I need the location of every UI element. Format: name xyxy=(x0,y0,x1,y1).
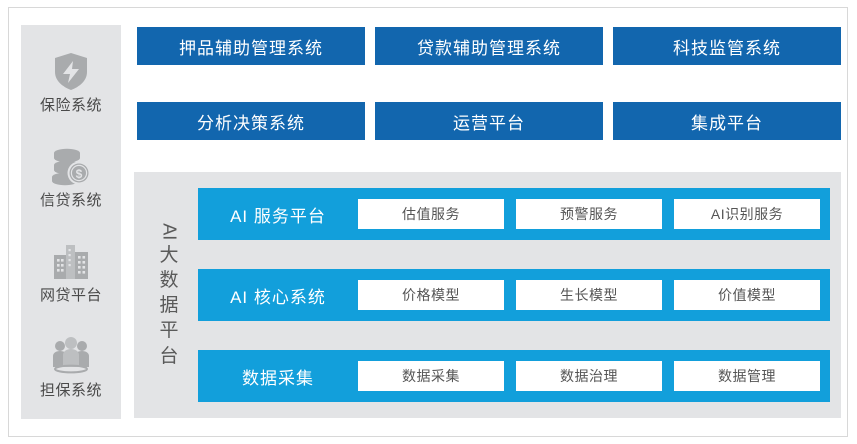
system-button-integration-platform[interactable]: 集成平台 xyxy=(613,102,841,140)
ai-row-chips: 估值服务 预警服务 AI识别服务 xyxy=(358,199,830,229)
chip-data-management[interactable]: 数据管理 xyxy=(674,361,820,391)
chip-growth-model[interactable]: 生长模型 xyxy=(516,280,662,310)
sidebar: 保险系统 $ 信贷 xyxy=(21,25,121,419)
system-button-operations-platform[interactable]: 运营平台 xyxy=(375,102,603,140)
chip-data-governance[interactable]: 数据治理 xyxy=(516,361,662,391)
ai-core-system-row: AI 核心系统 价格模型 生长模型 价值模型 xyxy=(198,269,830,321)
ai-vertical-char: AI xyxy=(158,223,180,240)
ai-platform-vertical-title: AI 大 数 据 平 台 xyxy=(142,186,196,404)
shield-bolt-icon xyxy=(48,48,94,94)
ai-row-chips: 价格模型 生长模型 价值模型 xyxy=(358,280,830,310)
system-button-pledge-management[interactable]: 押品辅助管理系统 xyxy=(137,27,365,65)
svg-text:$: $ xyxy=(76,167,83,181)
sidebar-item-label: 网贷平台 xyxy=(40,288,102,303)
chip-value-model[interactable]: 价值模型 xyxy=(674,280,820,310)
system-button-loan-management[interactable]: 贷款辅助管理系统 xyxy=(375,27,603,65)
sidebar-item-online-lending[interactable]: 网贷平台 xyxy=(21,223,121,318)
ai-vertical-char: 数 xyxy=(159,268,178,293)
ai-vertical-char: 大 xyxy=(159,243,178,268)
chip-price-model[interactable]: 价格模型 xyxy=(358,280,504,310)
ai-vertical-char: 据 xyxy=(159,293,178,318)
sidebar-item-credit[interactable]: $ 信贷系统 xyxy=(21,128,121,223)
chip-ai-recognition-service[interactable]: AI识别服务 xyxy=(674,199,820,229)
ai-vertical-char: 平 xyxy=(159,318,178,343)
system-button-tech-supervision[interactable]: 科技监管系统 xyxy=(613,27,841,65)
people-group-icon xyxy=(48,333,94,379)
ai-row-label: AI 服务平台 xyxy=(198,202,358,227)
ai-row-chips: 数据采集 数据治理 数据管理 xyxy=(358,361,830,391)
ai-service-platform-row: AI 服务平台 估值服务 预警服务 AI识别服务 xyxy=(198,188,830,240)
sidebar-item-label: 保险系统 xyxy=(40,98,102,113)
ai-row-label: AI 核心系统 xyxy=(198,283,358,308)
ai-row-label: 数据采集 xyxy=(198,364,358,389)
system-button-analysis-decision[interactable]: 分析决策系统 xyxy=(137,102,365,140)
sidebar-item-insurance[interactable]: 保险系统 xyxy=(21,33,121,128)
buildings-icon xyxy=(48,238,94,284)
sidebar-item-label: 信贷系统 xyxy=(40,193,102,208)
chip-data-collection[interactable]: 数据采集 xyxy=(358,361,504,391)
ai-bigdata-platform-panel: AI 大 数 据 平 台 AI 服务平台 估值服务 预警服务 AI识别服务 AI… xyxy=(134,172,841,418)
data-collection-row: 数据采集 数据采集 数据治理 数据管理 xyxy=(198,350,830,402)
chip-early-warning-service[interactable]: 预警服务 xyxy=(516,199,662,229)
sidebar-item-label: 担保系统 xyxy=(40,383,102,398)
sidebar-item-guarantee[interactable]: 担保系统 xyxy=(21,318,121,413)
chip-valuation-service[interactable]: 估值服务 xyxy=(358,199,504,229)
diagram-canvas: 保险系统 $ 信贷 xyxy=(0,0,857,444)
ai-vertical-char: 台 xyxy=(159,344,178,369)
coins-dollar-icon: $ xyxy=(48,143,94,189)
